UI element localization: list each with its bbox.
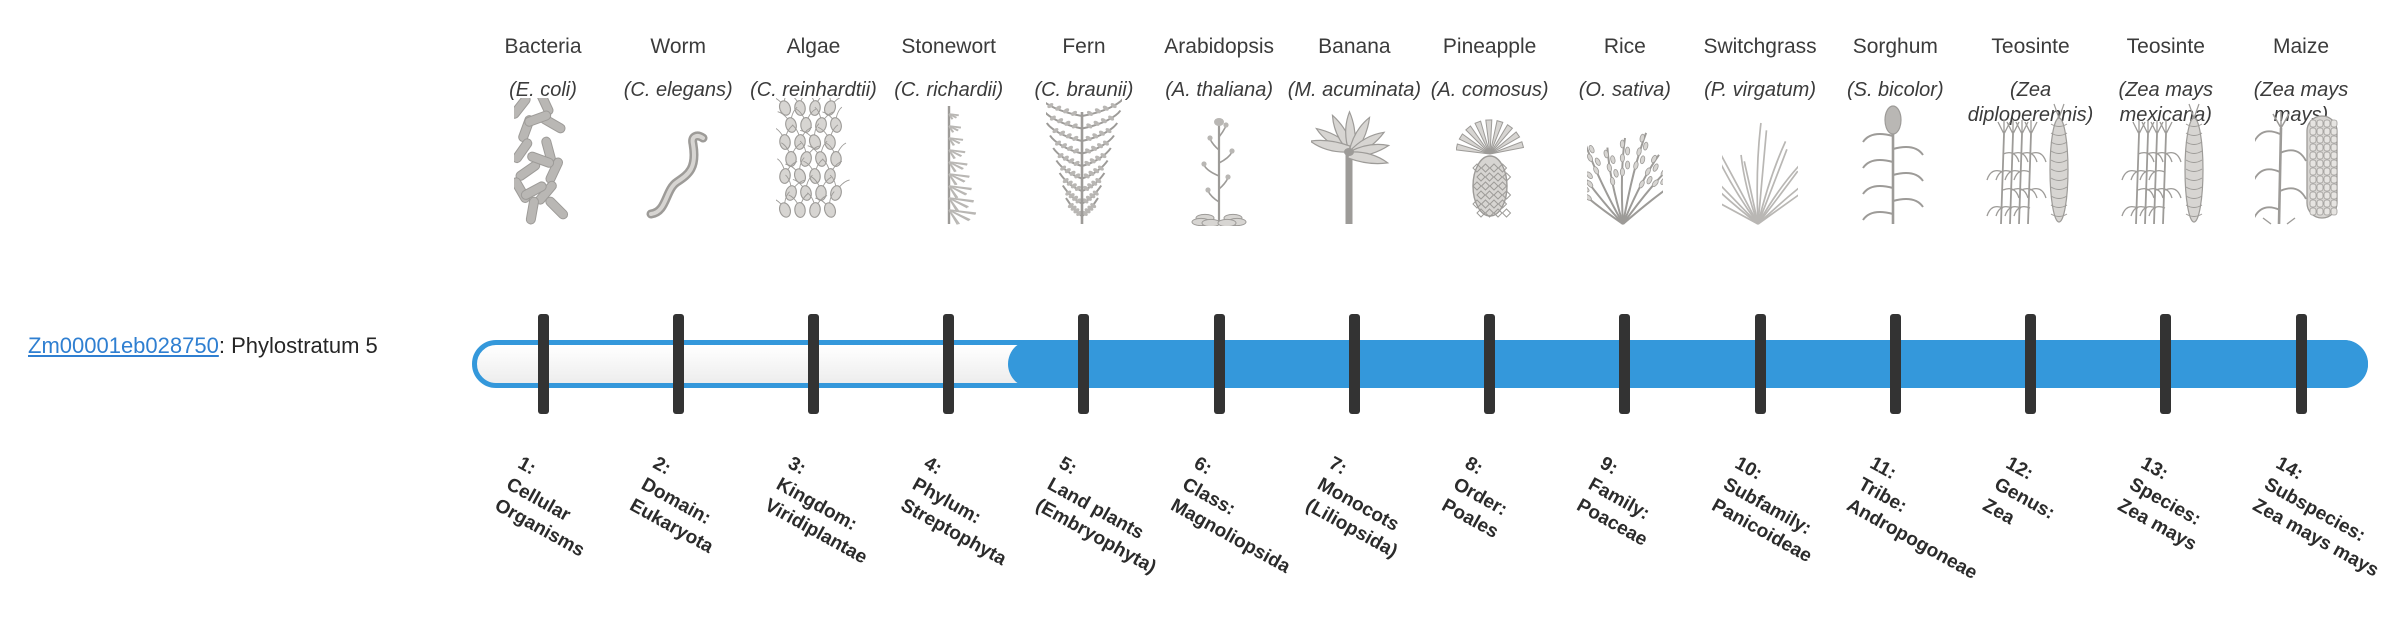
- fern-frond-icon: [1009, 136, 1159, 226]
- species-column: Pineapple(A. comosus): [1415, 34, 1565, 226]
- phylostratum-tick[interactable]: [538, 314, 549, 414]
- species-column: Sorghum(S. bicolor): [1820, 34, 1970, 226]
- phylostratum-value: Phylostratum 5: [231, 333, 378, 358]
- species-column: Arabidopsis(A. thaliana): [1144, 34, 1294, 226]
- phylostratum-tick[interactable]: [1484, 314, 1495, 414]
- species-common-name: Teosinte: [1956, 34, 2106, 64]
- maize-plant-and-cob-icon: [2226, 136, 2376, 226]
- species-column: Banana(M. acuminata): [1279, 34, 1429, 226]
- phylostratum-tick[interactable]: [1619, 314, 1630, 414]
- phylostratum-tick[interactable]: [1890, 314, 1901, 414]
- species-column: Teosinte(Zea mays mexicana): [2091, 34, 2241, 226]
- stratum-number: 9:: [1596, 453, 1621, 480]
- species-common-name: Pineapple: [1415, 34, 1565, 64]
- phylostratum-tick[interactable]: [2296, 314, 2307, 414]
- stratum-number: 2:: [650, 453, 675, 480]
- stratum-number: 4:: [920, 453, 945, 480]
- pineapple-plant-icon: [1415, 136, 1565, 226]
- species-column: Fern(C. braunii): [1009, 34, 1159, 226]
- species-common-name: Maize: [2226, 34, 2376, 64]
- stratum-number: 7:: [1326, 453, 1351, 480]
- phylostratum-tick[interactable]: [2025, 314, 2036, 414]
- phylostratum-tick[interactable]: [1078, 314, 1089, 414]
- stratum-number: 5:: [1055, 453, 1080, 480]
- stratum-number: 3:: [785, 453, 810, 480]
- phylostratum-tick[interactable]: [1214, 314, 1225, 414]
- gene-label-separator: :: [219, 333, 231, 358]
- bacteria-rods-icon: [468, 136, 618, 226]
- species-column: Bacteria(E. coli): [468, 34, 618, 226]
- species-column: Switchgrass(P. virgatum): [1685, 34, 1835, 226]
- species-column: Maize(Zea mays mays): [2226, 34, 2376, 226]
- phylostratum-tick[interactable]: [808, 314, 819, 414]
- green-algae-cells-icon: [738, 136, 888, 226]
- teosinte-plant-and-ear-icon: [2091, 136, 2241, 226]
- species-column: Stonewort(C. richardii): [874, 34, 1024, 226]
- species-common-name: Fern: [1009, 34, 1159, 64]
- banana-tree-icon: [1279, 136, 1429, 226]
- phylostratum-bar[interactable]: [472, 340, 2368, 388]
- rice-plant-icon: [1550, 136, 1700, 226]
- species-common-name: Banana: [1279, 34, 1429, 64]
- species-common-name: Stonewort: [874, 34, 1024, 64]
- teosinte-plant-and-ear-icon: [1956, 136, 2106, 226]
- phylostratum-tick[interactable]: [1755, 314, 1766, 414]
- phylostratum-tick[interactable]: [673, 314, 684, 414]
- phylostratum-tick[interactable]: [943, 314, 954, 414]
- species-column: Worm(C. elegans): [603, 34, 753, 226]
- stratum-number: 6:: [1190, 453, 1215, 480]
- species-common-name: Teosinte: [2091, 34, 2241, 64]
- phylostratum-tick[interactable]: [2160, 314, 2171, 414]
- species-common-name: Sorghum: [1820, 34, 1970, 64]
- phylostratum-tick[interactable]: [1349, 314, 1360, 414]
- switchgrass-clump-icon: [1685, 136, 1835, 226]
- gene-id-link[interactable]: Zm00001eb028750: [28, 333, 219, 358]
- species-common-name: Switchgrass: [1685, 34, 1835, 64]
- phylostratum-figure: Zm00001eb028750: Phylostratum 5 Bacteria…: [0, 0, 2400, 580]
- stonewort-alga-icon: [874, 136, 1024, 226]
- species-common-name: Bacteria: [468, 34, 618, 64]
- nematode-worm-icon: [603, 136, 753, 226]
- species-column: Rice(O. sativa): [1550, 34, 1700, 226]
- arabidopsis-plant-icon: [1144, 136, 1294, 226]
- stratum-number: 1:: [514, 453, 539, 480]
- species-column: Algae(C. reinhardtii): [738, 34, 888, 226]
- species-column: Teosinte(Zea diploperennis): [1956, 34, 2106, 226]
- stratum-number: 8:: [1461, 453, 1486, 480]
- species-binomial-name: (C. elegans): [603, 78, 753, 130]
- sorghum-plant-icon: [1820, 136, 1970, 226]
- species-common-name: Worm: [603, 34, 753, 64]
- species-common-name: Rice: [1550, 34, 1700, 64]
- gene-phylostratum-label: Zm00001eb028750: Phylostratum 5: [28, 332, 458, 360]
- species-common-name: Arabidopsis: [1144, 34, 1294, 64]
- species-common-name: Algae: [738, 34, 888, 64]
